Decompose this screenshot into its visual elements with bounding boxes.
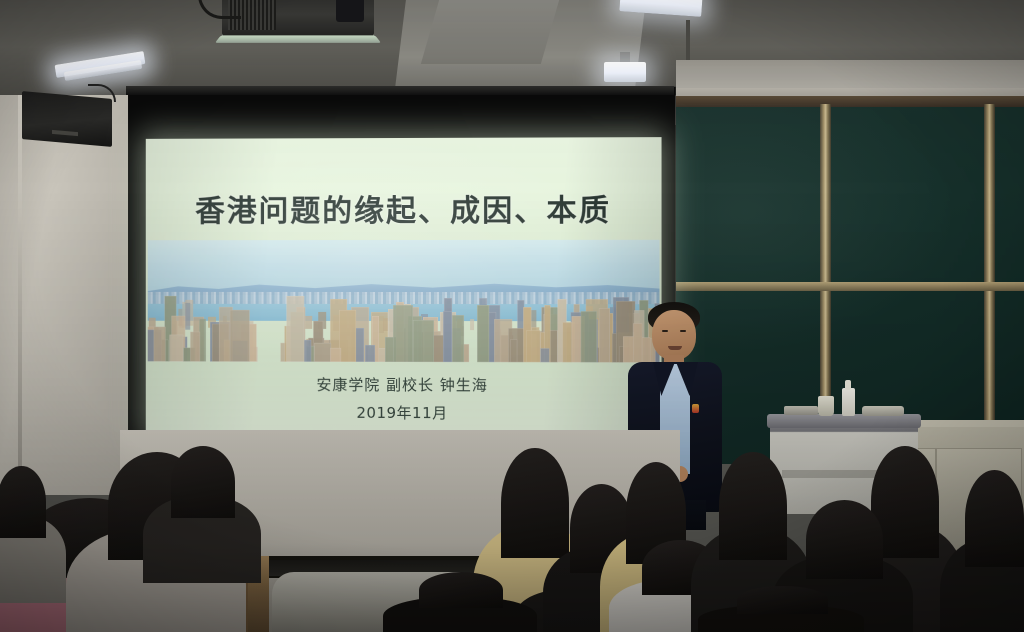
photo-distant-tower <box>185 302 191 329</box>
presenter-eye-left <box>662 330 668 332</box>
photo-building <box>190 332 200 362</box>
photo-building <box>477 305 489 362</box>
screen-top-bar <box>126 86 674 95</box>
photo-building <box>526 330 540 362</box>
photo-building <box>365 345 375 362</box>
water-bottle-icon <box>842 388 855 416</box>
water-bottle-cap <box>845 380 851 390</box>
lapel-pin-icon <box>692 404 699 413</box>
photo-building <box>230 310 249 362</box>
student-bottom-right-head <box>737 586 828 614</box>
photo-building <box>413 320 434 362</box>
photo-building <box>154 327 166 362</box>
photo-building <box>287 296 304 361</box>
wall-speaker-icon <box>22 91 112 147</box>
presenter-mouth <box>668 346 682 350</box>
photo-building <box>443 311 452 362</box>
photo-building <box>199 318 205 361</box>
presenter-head <box>652 310 696 360</box>
lectern-tray-right <box>862 406 904 416</box>
photo-building <box>393 305 414 362</box>
ceiling-lamp-right-icon <box>604 62 646 82</box>
photo-building <box>169 335 183 362</box>
photo-building <box>510 339 517 362</box>
student-left-edge-head <box>0 466 46 538</box>
slide-title: 香港问题的缘起、成因、本质 <box>146 185 662 230</box>
photo-building <box>580 311 596 362</box>
projector-lens <box>336 0 364 22</box>
photo-building <box>314 343 331 362</box>
slide-date-line: 2019年11月 <box>146 401 662 424</box>
presentation-slide: 香港问题的缘起、成因、本质 安康学院 副校长 钟生海 2019年11月 <box>146 137 662 439</box>
student-center-cream-head <box>501 448 568 558</box>
photo-city-skyline <box>148 288 660 363</box>
photo-building <box>453 315 465 362</box>
photo-building <box>540 348 549 362</box>
student-right-dark-3-head <box>965 470 1024 567</box>
photo-building <box>599 308 611 363</box>
photo-building <box>339 310 356 362</box>
student-right-boy-head <box>806 500 883 579</box>
wall-left-edge <box>18 95 22 495</box>
projection-screen: 香港问题的缘起、成因、本质 安康学院 副校长 钟生海 2019年11月 <box>128 87 676 462</box>
projector-icon <box>222 0 374 36</box>
student-left-dark-head <box>171 446 235 518</box>
photo-distant-tower <box>305 316 313 329</box>
photo-distant-tower <box>470 319 474 331</box>
lecture-hall-photo: 香港问题的缘起、成因、本质 安康学院 副校长 钟生海 2019年11月 <box>0 0 1024 632</box>
photo-building <box>330 347 341 361</box>
paper-cup-icon <box>818 396 834 416</box>
slide-hero-photo <box>148 240 660 363</box>
presenter-eye-right <box>680 330 686 332</box>
student-right-dark-1-head <box>719 452 786 560</box>
slide-presenter-line: 安康学院 副校长 钟生海 <box>146 373 662 395</box>
student-bottom-center-head <box>419 572 503 608</box>
lectern-tray-left <box>784 406 818 415</box>
lectern-top-surface <box>767 414 921 428</box>
ceiling-beam-secondary <box>421 0 559 64</box>
